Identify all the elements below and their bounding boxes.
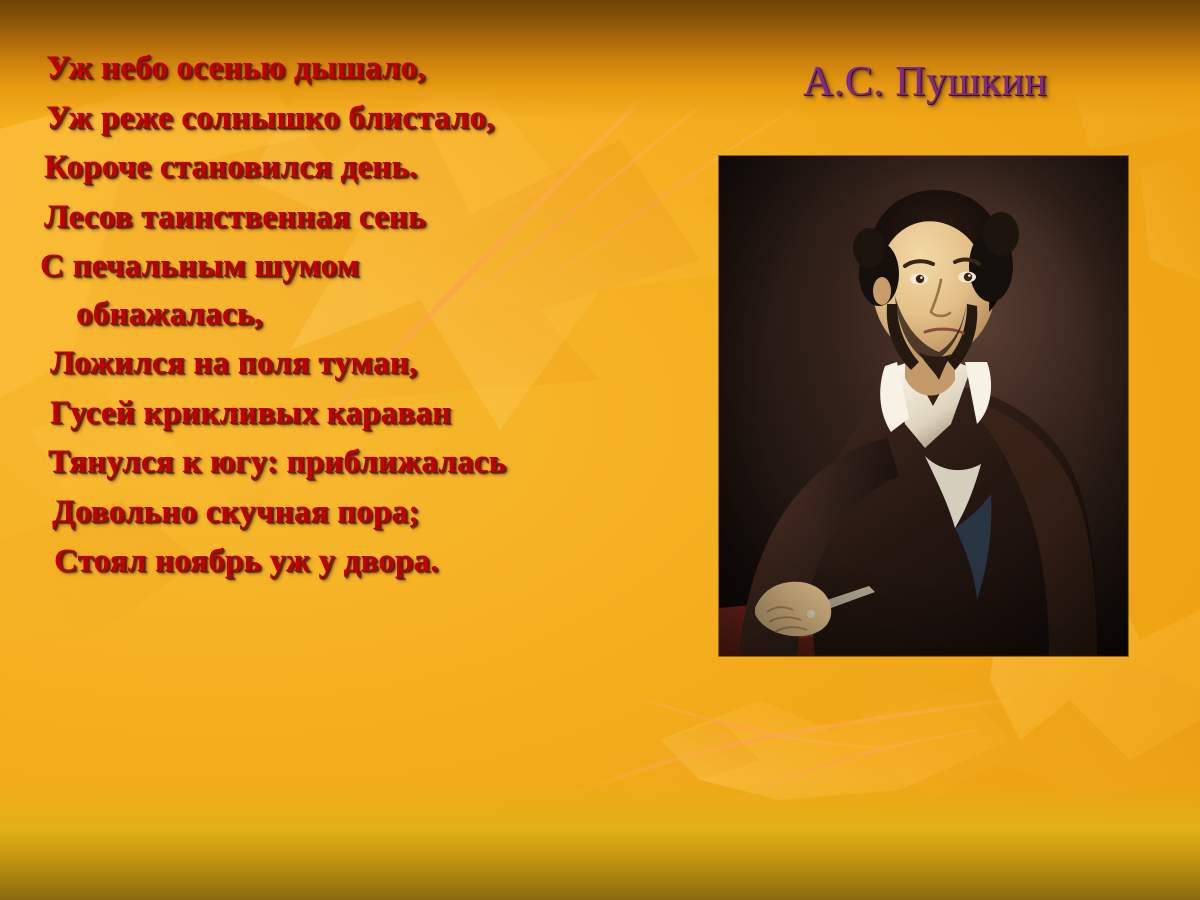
slide-canvas: Уж небо осенью дышало, Уж реже солнышко … [0,0,1200,900]
poem-line: Уж небо осенью дышало, [30,52,686,85]
poem-line: Лесов таинственная сень [30,201,686,234]
pushkin-portrait-image [719,156,1128,656]
portrait-painting-icon [719,156,1128,656]
poem-line: Короче становился день. [30,151,686,184]
poem-line: Стоял ноябрь уж у двора. [30,545,686,578]
poem-text-block: Уж небо осенью дышало, Уж реже солнышко … [0,52,700,595]
poem-line: Довольно скучная пора; [30,496,686,529]
poem-line: С печальным шумом [30,250,686,283]
poem-line: Уж реже солнышко блистало, [30,102,686,135]
poem-line: Ложился на поля туман, [30,347,686,380]
poem-line: Гусей крикливых караван [30,397,686,430]
slide-title: А.С. Пушкин [700,58,1150,106]
poem-line: обнажалась, [30,298,686,331]
poem-line: Тянулся к югу: приближалась [30,446,686,479]
bottom-edge-shading [0,780,1200,900]
